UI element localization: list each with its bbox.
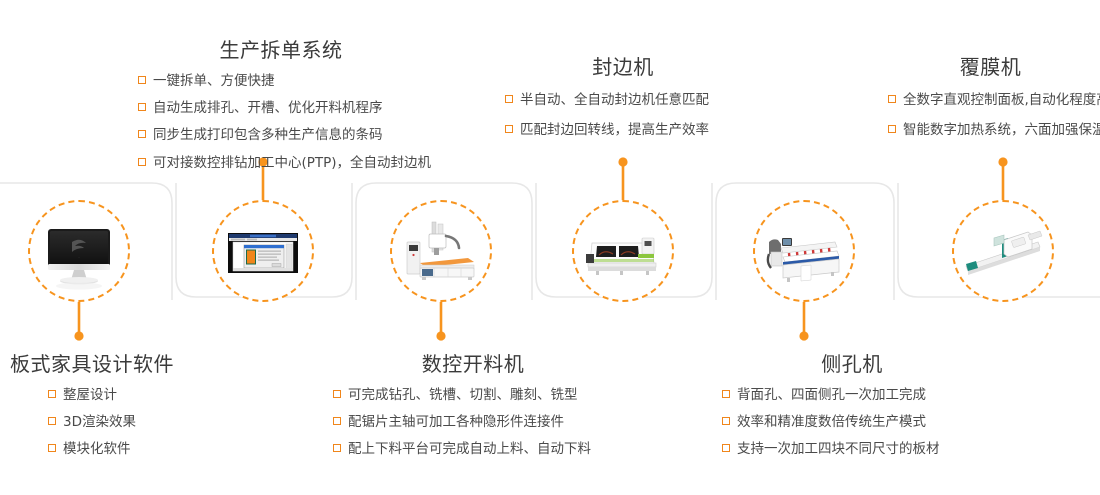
list-item: 模块化软件 [48,440,260,458]
bullet-square-icon [48,444,56,452]
bullet-text: 效率和精准度数倍传统生产模式 [737,413,926,431]
list-item: 同步生成打印包含多种生产信息的条码 [138,126,458,144]
edge-bander-icon [580,208,666,294]
bullet-list-production-splitting-system: 一键拆单、方便快捷 自动生成排孔、开槽、优化开料机程序 同步生成打印包含多种生产… [138,72,458,172]
bullet-square-icon [48,417,56,425]
bullet-text: 自动生成排孔、开槽、优化开料机程序 [153,99,383,117]
cnc-router-icon [398,208,484,294]
block-production-splitting-system: 生产拆单系统 一键拆单、方便快捷 自动生成排孔、开槽、优化开料机程序 同步生成打… [138,38,458,172]
list-item: 背面孔、四面侧孔一次加工完成 [722,386,1022,404]
list-item: 一键拆单、方便快捷 [138,72,458,90]
block-title-design-software: 板式家具设计软件 [10,352,260,376]
list-item: 全数字直观控制面板,自动化程度高 [888,91,1100,109]
bullet-square-icon [333,390,341,398]
node-production-splitting-system[interactable] [212,200,314,302]
bullet-square-icon [722,444,730,452]
node-design-software[interactable]: . [28,200,130,302]
bullet-text: 3D渲染效果 [63,413,136,431]
bullet-text: 可对接数控排钻加工中心(PTP)，全自动封边机 [153,154,431,172]
block-laminating-machine: 覆膜机 全数字直观控制面板,自动化程度高 智能数字加热系统，六面加强保温 [888,55,1100,139]
bullet-square-icon [138,158,146,166]
bullet-list-laminating-machine: 全数字直观控制面板,自动化程度高 智能数字加热系统，六面加强保温 [888,91,1100,139]
bullet-square-icon [333,444,341,452]
list-item: 整屋设计 [48,386,260,404]
list-item: 智能数字加热系统，六面加强保温 [888,121,1100,139]
bullet-text: 可完成钻孔、铣槽、切割、雕刻、铣型 [348,386,578,404]
node-side-hole-drilling-machine[interactable] [753,200,855,302]
list-item: 3D渲染效果 [48,413,260,431]
bullet-square-icon [333,417,341,425]
bullet-text: 模块化软件 [63,440,131,458]
bullet-text: 全数字直观控制面板,自动化程度高 [903,91,1100,109]
bullet-text: 配锯片主轴可加工各种隐形件连接件 [348,413,564,431]
bullet-square-icon [505,95,513,103]
list-item: 自动生成排孔、开槽、优化开料机程序 [138,99,458,117]
side-drill-icon [761,208,847,294]
block-side-hole-drilling-machine: 侧孔机 背面孔、四面侧孔一次加工完成 效率和精准度数倍传统生产模式 支持一次加工… [722,352,1022,459]
list-item: 可对接数控排钻加工中心(PTP)，全自动封边机 [138,154,458,172]
bullet-square-icon [722,417,730,425]
bullet-list-design-software: 整屋设计 3D渲染效果 模块化软件 [10,386,260,459]
block-design-software: 板式家具设计软件 整屋设计 3D渲染效果 模块化软件 [10,352,260,459]
node-cnc-cutting-machine[interactable] [390,200,492,302]
list-item: 支持一次加工四块不同尺寸的板材 [722,440,1022,458]
bullet-list-side-hole-drilling-machine: 背面孔、四面侧孔一次加工完成 效率和精准度数倍传统生产模式 支持一次加工四块不同… [722,386,1022,459]
bullet-text: 整屋设计 [63,386,117,404]
bullet-text: 半自动、全自动封边机任意匹配 [520,91,709,109]
bullet-square-icon [505,125,513,133]
list-item: 效率和精准度数倍传统生产模式 [722,413,1022,431]
list-item: 配锯片主轴可加工各种隐形件连接件 [333,413,633,431]
block-edge-banding-machine: 封边机 半自动、全自动封边机任意匹配 匹配封边回转线，提高生产效率 [505,55,755,139]
bullet-square-icon [138,76,146,84]
block-title-production-splitting-system: 生产拆单系统 [138,38,424,62]
bullet-square-icon [888,125,896,133]
bullet-square-icon [138,103,146,111]
bullet-list-cnc-cutting-machine: 可完成钻孔、铣槽、切割、雕刻、铣型 配锯片主轴可加工各种隐形件连接件 配上下料平… [333,386,633,459]
node-laminating-machine[interactable] [952,200,1054,302]
bullet-text: 同步生成打印包含多种生产信息的条码 [153,126,383,144]
bullet-text: 一键拆单、方便快捷 [153,72,275,90]
laminator-icon [960,208,1046,294]
block-title-laminating-machine: 覆膜机 [888,55,1093,79]
list-item: 可完成钻孔、铣槽、切割、雕刻、铣型 [333,386,633,404]
list-item: 匹配封边回转线，提高生产效率 [505,121,755,139]
list-item: 半自动、全自动封边机任意匹配 [505,91,755,109]
bullet-square-icon [138,130,146,138]
bullet-square-icon [888,95,896,103]
process-flow-infographic: . [0,0,1100,495]
bullet-text: 支持一次加工四块不同尺寸的板材 [737,440,940,458]
bullet-text: 匹配封边回转线，提高生产效率 [520,121,709,139]
block-title-side-hole-drilling-machine: 侧孔机 [722,352,982,376]
block-cnc-cutting-machine: 数控开料机 可完成钻孔、铣槽、切割、雕刻、铣型 配锯片主轴可加工各种隐形件连接件… [333,352,633,459]
block-title-edge-banding-machine: 封边机 [505,55,741,79]
bullet-list-edge-banding-machine: 半自动、全自动封边机任意匹配 匹配封边回转线，提高生产效率 [505,91,755,139]
bullet-text: 配上下料平台可完成自动上料、自动下料 [348,440,591,458]
bullet-square-icon [48,390,56,398]
bullet-square-icon [722,390,730,398]
imac-monitor-icon: . [36,208,122,294]
bullet-text: 背面孔、四面侧孔一次加工完成 [737,386,926,404]
svg-text:.: . [78,254,79,259]
block-title-cnc-cutting-machine: 数控开料机 [333,352,613,376]
list-item: 配上下料平台可完成自动上料、自动下料 [333,440,633,458]
cad-software-screen-icon [220,208,306,294]
bullet-text: 智能数字加热系统，六面加强保温 [903,121,1100,139]
node-edge-banding-machine[interactable] [572,200,674,302]
